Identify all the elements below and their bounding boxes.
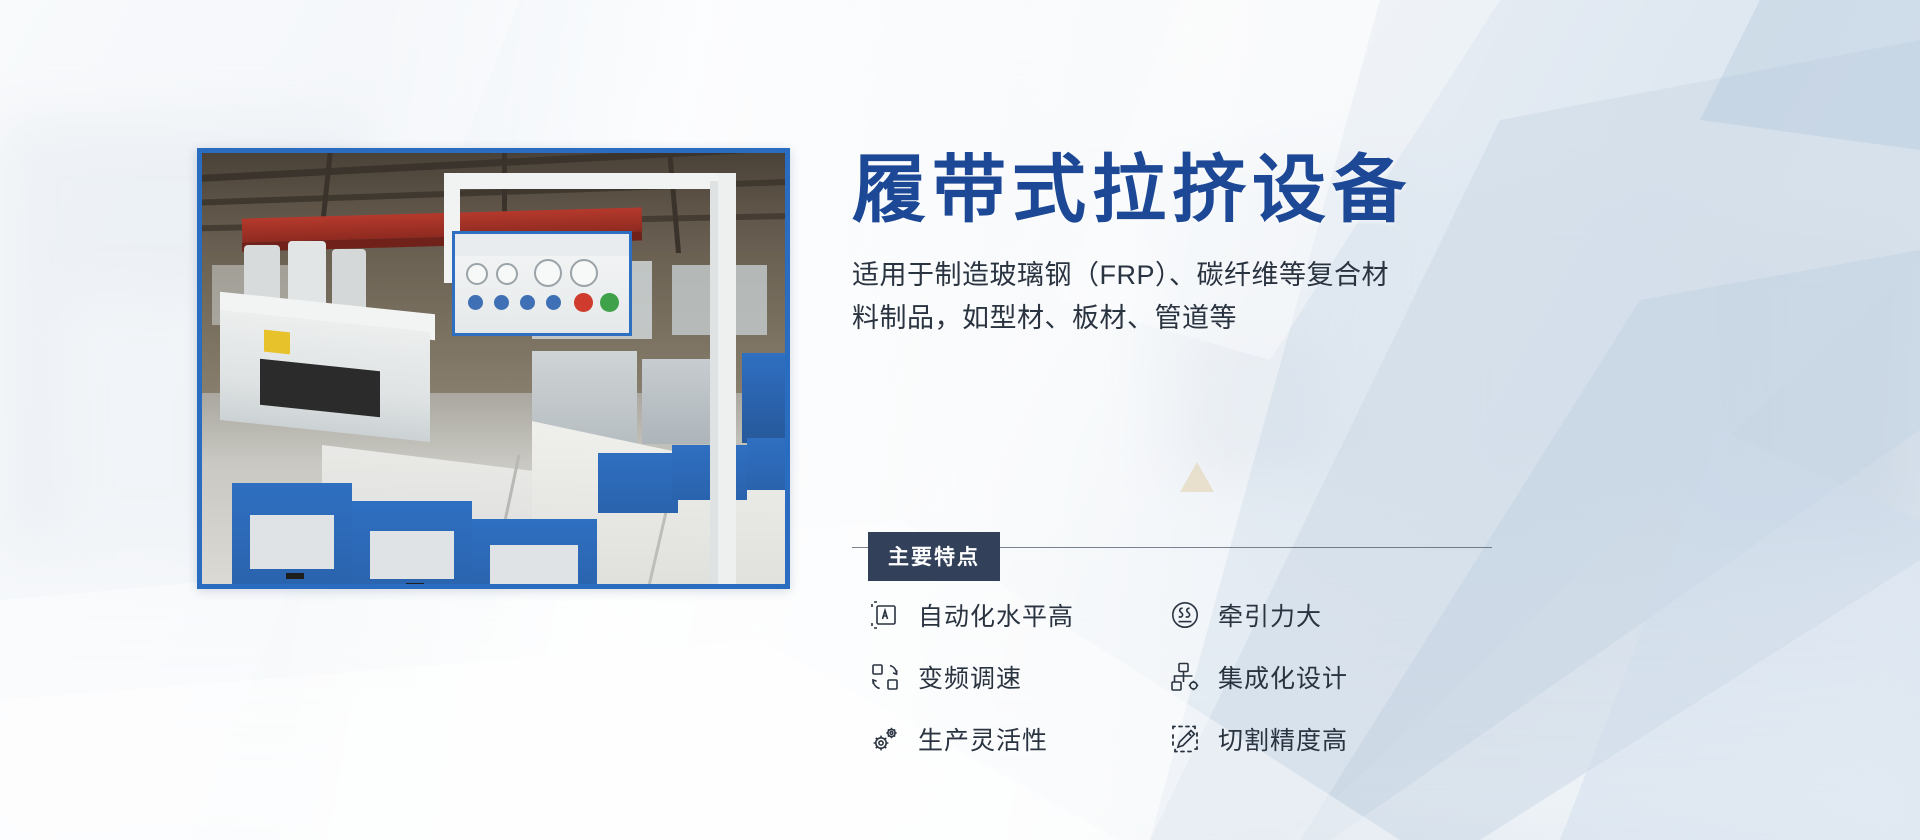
- feature-label: 集成化设计: [1218, 659, 1348, 695]
- feature-label: 切割精度高: [1218, 721, 1348, 757]
- banner-content: 履带式拉挤设备 适用于制造玻璃钢（FRP）、碳纤维等复合材 料制品，如型材、板材…: [852, 150, 1852, 689]
- features-badge: 主要特点: [868, 532, 1000, 581]
- page-title: 履带式拉挤设备: [852, 150, 1852, 230]
- feature-item-production-flexibility: 生产灵活性: [868, 721, 1168, 757]
- description-line-1: 适用于制造玻璃钢（FRP）、碳纤维等复合材: [852, 260, 1389, 290]
- feature-label: 自动化水平高: [918, 597, 1074, 633]
- product-description: 适用于制造玻璃钢（FRP）、碳纤维等复合材 料制品，如型材、板材、管道等: [852, 254, 1492, 339]
- feature-label: 牵引力大: [1218, 597, 1322, 633]
- integrated-design-icon: [1168, 660, 1202, 694]
- feature-item-frequency-speed: 变频调速: [868, 659, 1168, 695]
- feature-item-traction-force: 牵引力大: [1168, 597, 1468, 633]
- frequency-speed-icon: [868, 660, 902, 694]
- gears-icon: [868, 722, 902, 756]
- cutting-precision-icon: [1168, 722, 1202, 756]
- feature-item-cutting-precision: 切割精度高: [1168, 721, 1468, 757]
- traction-force-icon: [1168, 598, 1202, 632]
- automation-icon: [868, 598, 902, 632]
- feature-label: 变频调速: [918, 659, 1022, 695]
- feature-item-automation: 自动化水平高: [868, 597, 1168, 633]
- feature-list: 自动化水平高 牵引力大: [868, 597, 1528, 757]
- description-line-2: 料制品，如型材、板材、管道等: [852, 303, 1237, 333]
- product-photo: [197, 148, 790, 589]
- decorative-triangle: [1180, 462, 1214, 492]
- feature-item-integrated-design: 集成化设计: [1168, 659, 1468, 695]
- feature-label: 生产灵活性: [918, 721, 1048, 757]
- hero-banner: 履带式拉挤设备 适用于制造玻璃钢（FRP）、碳纤维等复合材 料制品，如型材、板材…: [0, 0, 1920, 840]
